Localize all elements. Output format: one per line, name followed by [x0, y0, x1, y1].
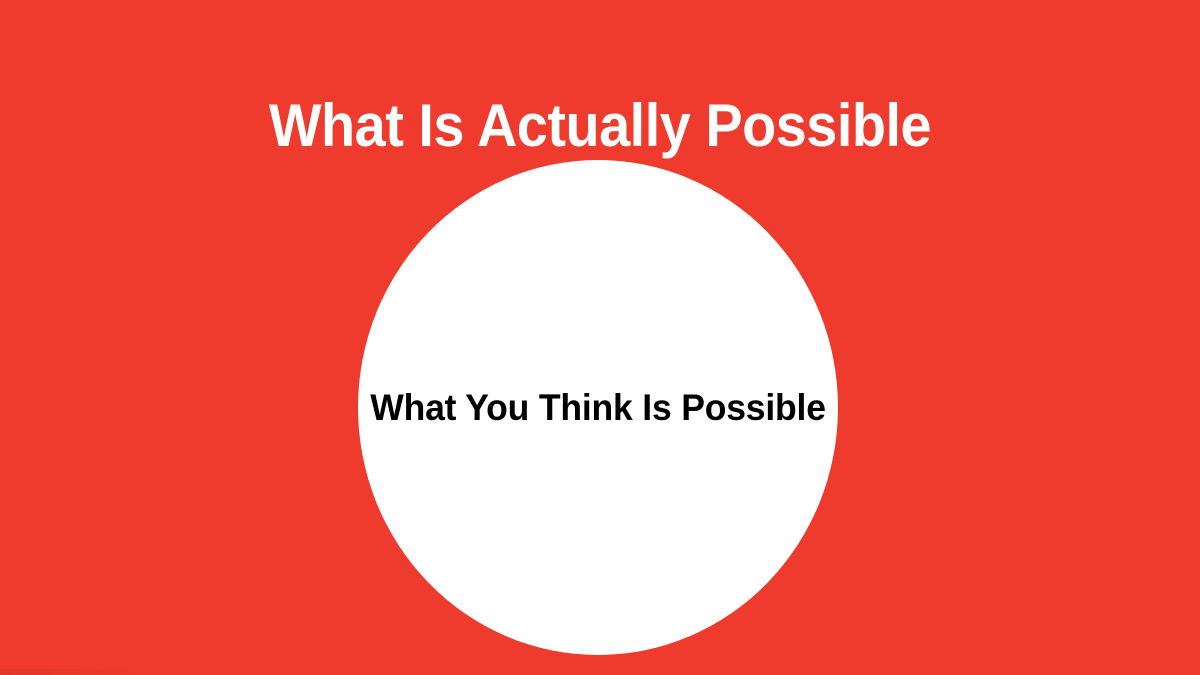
bottom-edge-shadow	[0, 669, 150, 675]
possibility-circle-label: What You Think Is Possible	[370, 385, 826, 431]
slide-canvas: What Is Actually Possible What You Think…	[0, 0, 1200, 675]
page-title: What Is Actually Possible	[42, 90, 1158, 162]
possibility-circle-label-wrap: What You Think Is Possible	[368, 160, 829, 655]
